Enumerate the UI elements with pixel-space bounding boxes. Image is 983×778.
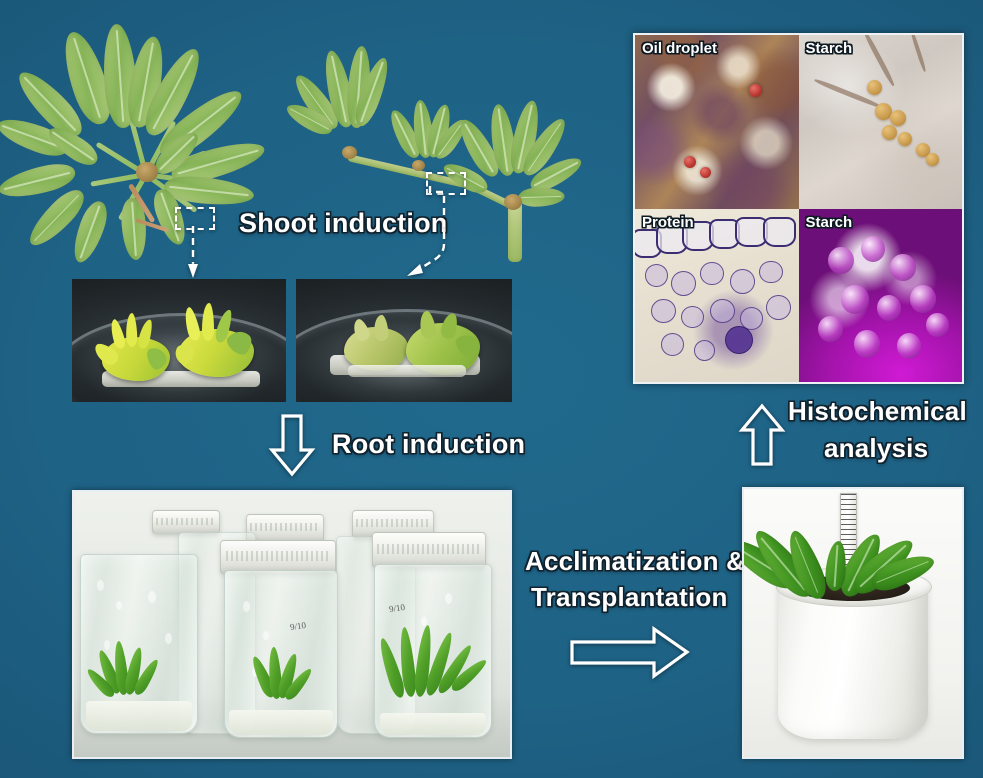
taproot: [512, 254, 521, 372]
histochemical-arrow: [738, 404, 786, 466]
shoot-induction-culture-photo-2: [296, 279, 512, 402]
rooting-culture-jars-photo: 9/10 9/10: [72, 490, 512, 759]
starch-granule: [910, 285, 936, 313]
histo-quadrant-starch-pale: Starch: [799, 35, 963, 209]
starch-granule: [841, 285, 869, 314]
oil-droplet-marker: [749, 84, 762, 97]
jar-lid: [372, 532, 486, 568]
acclimatization-label-line1: Acclimatization &: [525, 546, 745, 578]
starch-granule: [890, 110, 906, 126]
graphical-abstract: Shoot induction: [0, 0, 983, 778]
acclimatized-potted-plant-photo: [742, 487, 964, 759]
starch-micrograph-magenta: [799, 209, 963, 383]
histo-label-oil-droplet: Oil droplet: [642, 40, 717, 57]
histo-label-starch-pale: Starch: [806, 40, 853, 57]
parenchyma-cell: [645, 264, 668, 287]
plantlet: [375, 565, 491, 737]
parenchyma-cell: [671, 271, 696, 296]
node: [504, 194, 522, 210]
histo-label-starch-magenta: Starch: [806, 214, 853, 231]
culture-medium: [348, 365, 466, 377]
histochemical-label-line2: analysis: [824, 433, 928, 465]
jar-lid: [152, 510, 220, 534]
culture-jar: [80, 554, 198, 734]
shoot-leaf: [202, 303, 214, 341]
starch-granule: [926, 313, 949, 337]
histochemical-label-line1: Histochemical: [788, 396, 967, 428]
plantlet: [225, 571, 337, 737]
starch-granule: [854, 330, 880, 358]
acclimatization-label-line2: Transplantation: [531, 582, 728, 614]
histochemical-panel: Oil droplet Starch: [633, 33, 964, 384]
plantlet: [81, 555, 197, 733]
root-induction-arrow: [268, 414, 316, 476]
culture-jar: 9/10: [374, 564, 492, 738]
parenchyma-cell: [700, 262, 723, 285]
epidermal-cell: [763, 217, 796, 247]
plant-crown: [136, 162, 158, 182]
histo-quadrant-protein: Protein: [635, 209, 799, 383]
jar-lid: [220, 540, 336, 574]
shoot-induction-culture-photo-1: [72, 279, 286, 402]
root-induction-label: Root induction: [332, 428, 525, 461]
culture-jar: 9/10: [224, 570, 338, 738]
node: [412, 160, 425, 171]
shoot-dashed-arrow-right: [396, 186, 476, 282]
oil-droplet-micrograph: [635, 35, 799, 209]
starch-granule: [882, 125, 897, 140]
leaf: [518, 187, 565, 208]
acclimatization-arrow: [570, 626, 690, 680]
shoot-dashed-arrow-left: [170, 222, 230, 284]
node: [342, 146, 357, 159]
histo-label-protein: Protein: [642, 214, 694, 231]
starch-granule: [818, 316, 843, 342]
starch-granule: [926, 153, 939, 166]
parenchyma-cell: [766, 295, 791, 320]
jar-lid: [246, 514, 324, 542]
parenchyma-cell: [730, 269, 755, 294]
parenchyma-cell: [759, 261, 782, 284]
histo-quadrant-starch-magenta: Starch: [799, 209, 963, 383]
histo-quadrant-oil-droplet: Oil droplet: [635, 35, 799, 209]
